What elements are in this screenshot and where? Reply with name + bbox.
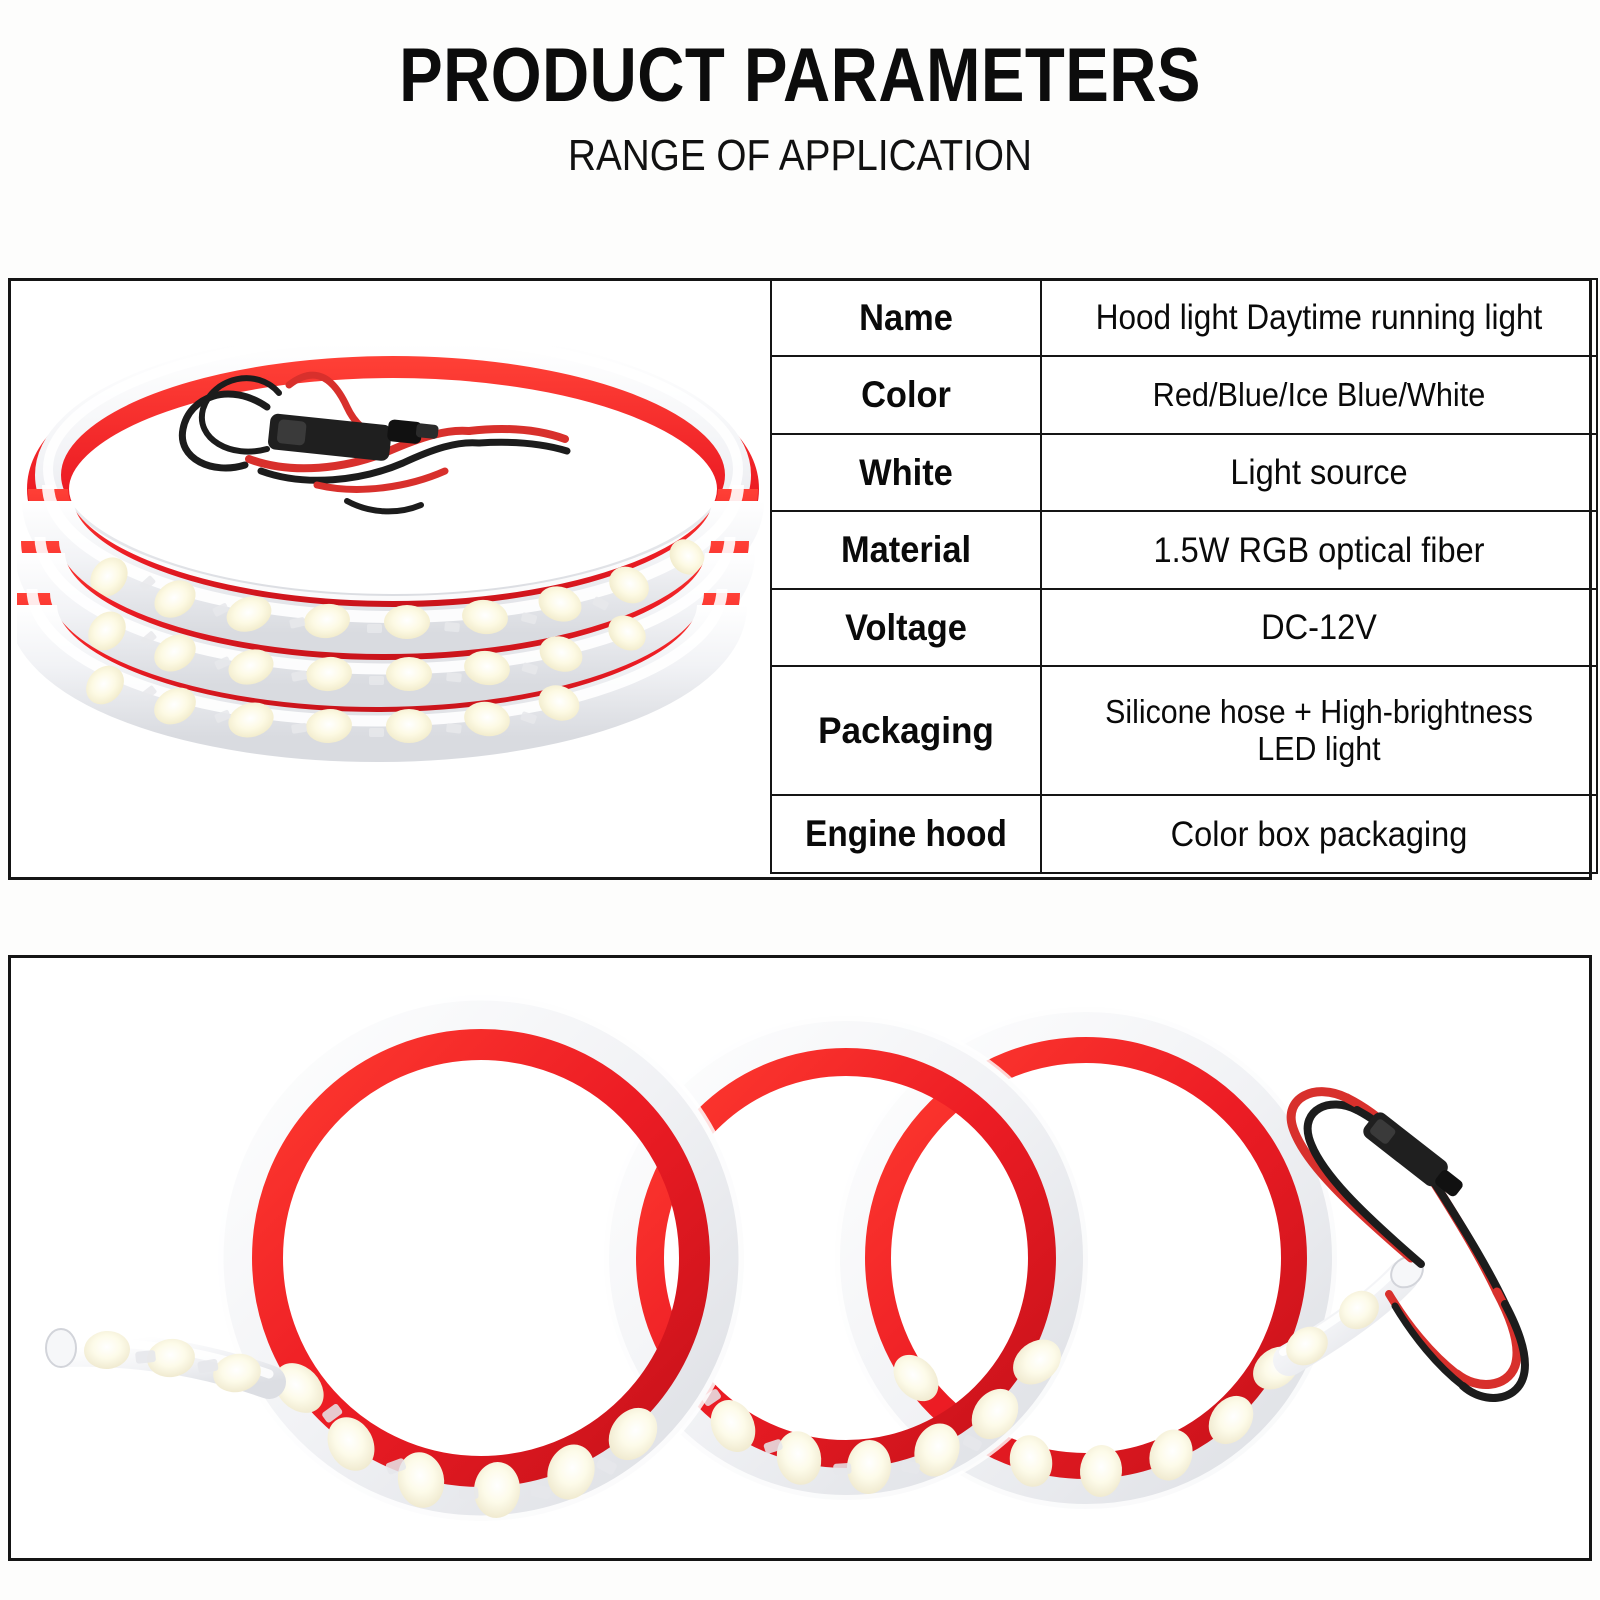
row-label: Packaging <box>771 666 1041 795</box>
row-label: Voltage <box>771 589 1041 666</box>
led-strip-loops-image <box>11 958 1589 1558</box>
row-label: Material <box>771 511 1041 588</box>
row-label: Color <box>771 356 1041 433</box>
row-value: DC-12V <box>1041 589 1597 666</box>
page-title: PRODUCT PARAMETERS <box>112 0 1488 114</box>
page-subtitle: RANGE OF APPLICATION <box>96 114 1504 178</box>
top-panel: Name Hood light Daytime running light Co… <box>8 278 1592 880</box>
row-label: Engine hood <box>771 795 1041 873</box>
row-label: White <box>771 434 1041 511</box>
row-value: Hood light Daytime running light <box>1041 279 1597 356</box>
table-row: Engine hood Color box packaging <box>771 795 1597 873</box>
table-row: Name Hood light Daytime running light <box>771 279 1597 356</box>
row-value: Red/Blue/Ice Blue/White <box>1041 356 1597 433</box>
coiled-led-strip-image <box>17 289 769 869</box>
row-value: Color box packaging <box>1041 795 1597 873</box>
row-value: Light source <box>1041 434 1597 511</box>
bottom-panel <box>8 955 1592 1561</box>
table-row: Color Red/Blue/Ice Blue/White <box>771 356 1597 433</box>
row-label: Name <box>771 279 1041 356</box>
row-value: 1.5W RGB optical fiber <box>1041 511 1597 588</box>
page-header: PRODUCT PARAMETERS RANGE OF APPLICATION <box>0 0 1600 178</box>
row-value: Silicone hose + High-brightness LED ligh… <box>1041 666 1597 795</box>
table-row: Packaging Silicone hose + High-brightnes… <box>771 666 1597 795</box>
table-row: Voltage DC-12V <box>771 589 1597 666</box>
table-row: Material 1.5W RGB optical fiber <box>771 511 1597 588</box>
table-row: White Light source <box>771 434 1597 511</box>
product-parameters-table: Name Hood light Daytime running light Co… <box>770 278 1598 874</box>
